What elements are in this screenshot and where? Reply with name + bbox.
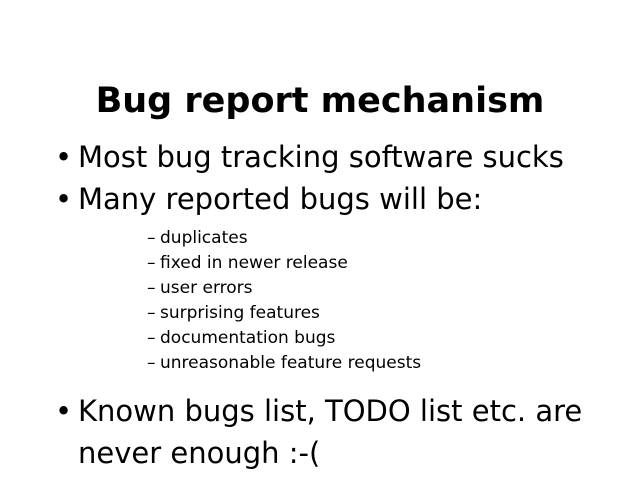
dash-marker-icon: – [147, 301, 156, 326]
sub-list-item: – documentation bugs [54, 326, 624, 351]
sub-list-item-label: surprising features [160, 301, 320, 326]
spacer [54, 376, 624, 390]
dash-marker-icon: – [147, 276, 156, 301]
bullet-marker-icon: • [55, 178, 72, 220]
list-item-label: Most bug tracking software sucks [78, 136, 624, 178]
sub-list-item-label: user errors [160, 276, 253, 301]
dash-marker-icon: – [147, 326, 156, 351]
sub-list-item: – fixed in newer release [54, 251, 624, 276]
list-item: • Many reported bugs will be: [54, 178, 624, 220]
slide-canvas: Bug report mechanism • Most bug tracking… [0, 0, 640, 480]
list-item-label: Known bugs list, TODO list etc. are neve… [78, 390, 624, 474]
list-item: • Known bugs list, TODO list etc. are ne… [54, 390, 624, 474]
sub-list-item: – unreasonable feature requests [54, 351, 624, 376]
slide-body: • Most bug tracking software sucks • Man… [54, 136, 624, 474]
sub-list-item: – duplicates [54, 226, 624, 251]
dash-marker-icon: – [147, 351, 156, 376]
sub-list-item: – user errors [54, 276, 624, 301]
list-item-label: Many reported bugs will be: [78, 178, 624, 220]
sub-list-item-label: unreasonable feature requests [160, 351, 421, 376]
sub-list-item-label: fixed in newer release [160, 251, 348, 276]
sub-list-item-label: documentation bugs [160, 326, 335, 351]
page-title: Bug report mechanism [0, 79, 640, 123]
sub-list-item: – surprising features [54, 301, 624, 326]
bullet-marker-icon: • [55, 136, 72, 178]
sub-list-item-label: duplicates [160, 226, 248, 251]
dash-marker-icon: – [147, 226, 156, 251]
bullet-marker-icon: • [55, 390, 72, 432]
sub-list: – duplicates – fixed in newer release – … [54, 226, 624, 376]
list-item: • Most bug tracking software sucks [54, 136, 624, 178]
dash-marker-icon: – [147, 251, 156, 276]
